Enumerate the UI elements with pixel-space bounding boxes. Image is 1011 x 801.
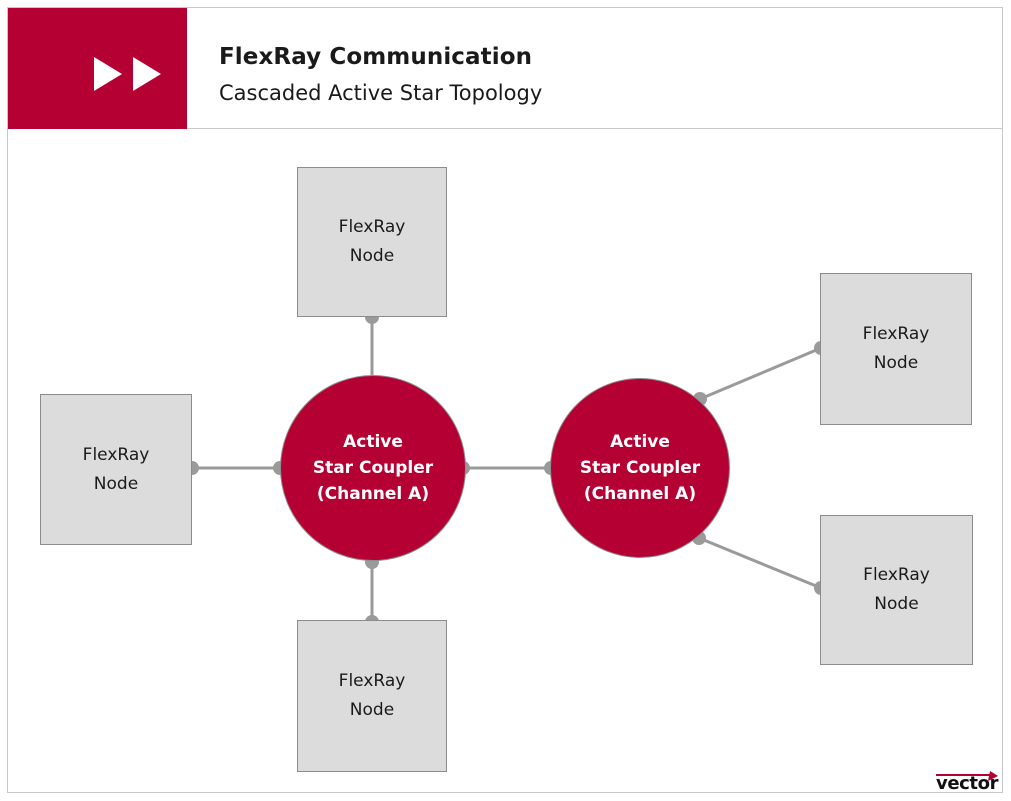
play-arrow-icon-2 xyxy=(133,57,161,91)
brand-logo-block xyxy=(8,8,187,129)
node-top[interactable]: FlexRay Node xyxy=(297,167,447,317)
node-left[interactable]: FlexRay Node xyxy=(40,394,192,545)
node-right-bottom-label: FlexRay Node xyxy=(863,561,930,619)
node-right-top[interactable]: FlexRay Node xyxy=(820,273,972,425)
play-arrow-icon-1 xyxy=(94,57,122,91)
node-top-label: FlexRay Node xyxy=(339,213,406,271)
wire-right-coupler-to-right-top-node xyxy=(700,348,821,399)
page-header: FlexRay Communication Cascaded Active St… xyxy=(8,8,1002,129)
node-right-bottom[interactable]: FlexRay Node xyxy=(820,515,973,665)
wire-right-coupler-to-right-bottom-node xyxy=(699,538,821,588)
double-play-arrows-icon xyxy=(94,57,166,91)
page-title: FlexRay Communication xyxy=(219,41,542,73)
node-left-label: FlexRay Node xyxy=(83,441,150,499)
coupler-left-label: Active Star Coupler (Channel A) xyxy=(313,429,433,507)
coupler-right[interactable]: Active Star Coupler (Channel A) xyxy=(550,378,730,558)
screenshot-root: FlexRay Communication Cascaded Active St… xyxy=(0,0,1011,801)
topology-diagram: FlexRay Node FlexRay Node FlexRay Node F… xyxy=(8,130,1002,792)
node-bottom[interactable]: FlexRay Node xyxy=(297,620,447,772)
node-bottom-label: FlexRay Node xyxy=(339,667,406,725)
coupler-right-label: Active Star Coupler (Channel A) xyxy=(580,429,700,507)
header-text-group: FlexRay Communication Cascaded Active St… xyxy=(219,41,542,109)
vector-brand-logo: vector xyxy=(932,768,1002,794)
coupler-left[interactable]: Active Star Coupler (Channel A) xyxy=(280,375,466,561)
page-subtitle: Cascaded Active Star Topology xyxy=(219,77,542,109)
node-right-top-label: FlexRay Node xyxy=(863,320,930,378)
